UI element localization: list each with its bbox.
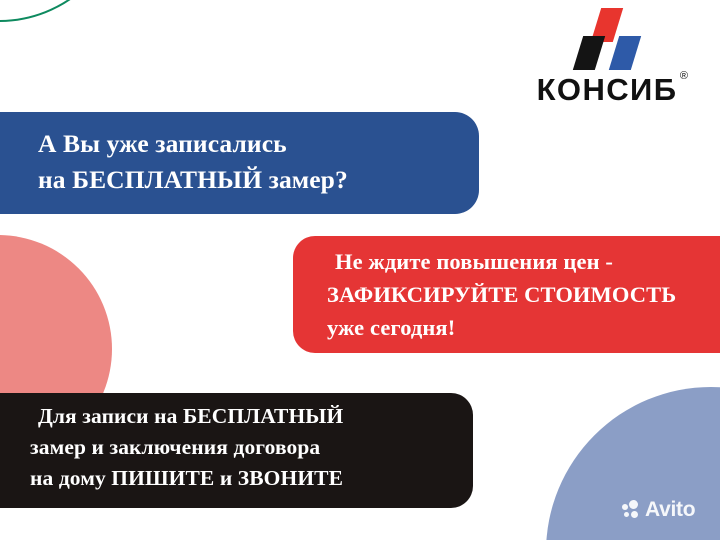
konsib-logo-mark-icon — [570, 8, 644, 72]
blue-headline-banner: А Вы уже записались на БЕСПЛАТНЫЙ замер? — [0, 112, 479, 214]
red-banner-line-3: уже сегодня! — [327, 312, 720, 345]
black-banner-line-2: замер и заключения договора — [30, 432, 473, 463]
konsib-wordmark-text: КОНСИБ — [537, 72, 678, 107]
green-ring-decoration — [0, 0, 126, 22]
logo-parallelogram-blue-icon — [609, 36, 641, 70]
red-banner-line-1: Не ждите повышения цен - — [327, 246, 720, 279]
blue-banner-line-1: А Вы уже записались — [38, 126, 479, 162]
avito-dots-icon — [622, 500, 642, 520]
registered-trademark-icon: ® — [680, 71, 690, 82]
black-banner-line-3: на дому ПИШИТЕ и ЗВОНИТЕ — [30, 463, 473, 494]
avito-watermark: Avito — [622, 499, 695, 520]
red-banner-line-2: ЗАФИКСИРУЙТЕ СТОИМОСТЬ — [327, 279, 720, 312]
poster-canvas: КОНСИБ ® А Вы уже записались на БЕСПЛАТН… — [0, 0, 720, 540]
konsib-wordmark: КОНСИБ ® — [537, 74, 678, 105]
avito-watermark-label: Avito — [645, 499, 695, 520]
logo-parallelogram-black-icon — [573, 36, 605, 70]
black-contact-banner: Для записи на БЕСПЛАТНЫЙ замер и заключе… — [0, 393, 473, 508]
konsib-logo: КОНСИБ ® — [512, 8, 702, 105]
red-promo-banner: Не ждите повышения цен - ЗАФИКСИРУЙТЕ СТ… — [293, 236, 720, 353]
blue-banner-line-2: на БЕСПЛАТНЫЙ замер? — [38, 162, 479, 198]
black-banner-line-1: Для записи на БЕСПЛАТНЫЙ — [30, 401, 473, 432]
